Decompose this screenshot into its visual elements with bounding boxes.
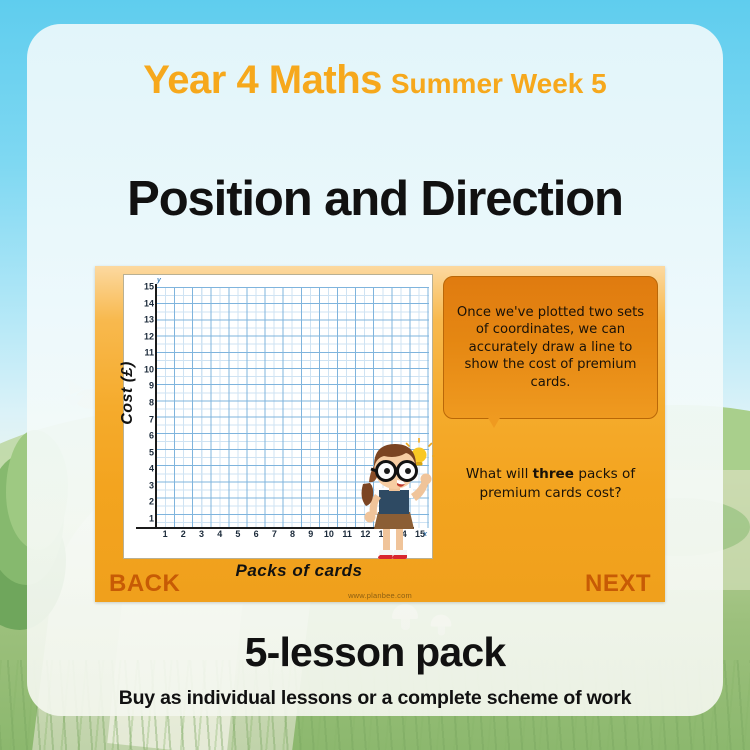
x-tick-label: 8 [283, 530, 301, 542]
question-prefix: What will [466, 466, 533, 482]
y-tick-label: 15 [130, 283, 154, 292]
page-title: Position and Direction [27, 171, 723, 227]
question-box: What will three packs of premium cards c… [443, 434, 658, 534]
y-tick-label: 3 [130, 481, 154, 490]
pack-title: 5-lesson pack [27, 629, 723, 676]
question-text: What will three packs of premium cards c… [449, 465, 652, 503]
y-axis-title: Cost (£) [119, 348, 137, 438]
pack-subtitle: Buy as individual lessons or a complete … [27, 687, 723, 710]
x-axis-title: Packs of cards [199, 561, 399, 581]
course-term: Summer Week 5 [391, 68, 607, 99]
y-tick-label: 2 [130, 498, 154, 507]
y-axis-line [155, 284, 157, 529]
course-header: Year 4 MathsSummer Week 5 [27, 58, 723, 103]
y-tick-label: 14 [130, 299, 154, 308]
x-tick-label: 1 [156, 530, 174, 542]
lesson-slide-preview[interactable]: y x 123456789101112131415 12345678910111… [95, 266, 665, 602]
girl-with-glasses-character [353, 438, 435, 564]
x-tick-label: 7 [265, 530, 283, 542]
y-tick-label: 5 [130, 448, 154, 457]
x-tick-label: 6 [247, 530, 265, 542]
y-tick-label: 13 [130, 316, 154, 325]
watermark: www.planbee.com [95, 591, 665, 600]
y-tick-label: 12 [130, 332, 154, 341]
x-tick-label: 2 [174, 530, 192, 542]
speech-tail-icon [487, 416, 501, 428]
y-tick-label: 4 [130, 465, 154, 474]
x-tick-label: 5 [229, 530, 247, 542]
x-tick-label: 3 [192, 530, 210, 542]
instruction-text: Once we've plotted two sets of coordinat… [453, 304, 648, 391]
x-tick-label: 10 [320, 530, 338, 542]
instruction-speech-box: Once we've plotted two sets of coordinat… [443, 276, 658, 419]
y-axis-tag: y [157, 277, 161, 284]
content-card: Year 4 MathsSummer Week 5 Position and D… [27, 24, 723, 716]
course-title: Year 4 Maths [143, 58, 382, 102]
x-tick-label: 4 [211, 530, 229, 542]
y-tick-label: 1 [130, 514, 154, 523]
x-tick-label: 9 [302, 530, 320, 542]
question-emphasis: three [533, 466, 574, 482]
